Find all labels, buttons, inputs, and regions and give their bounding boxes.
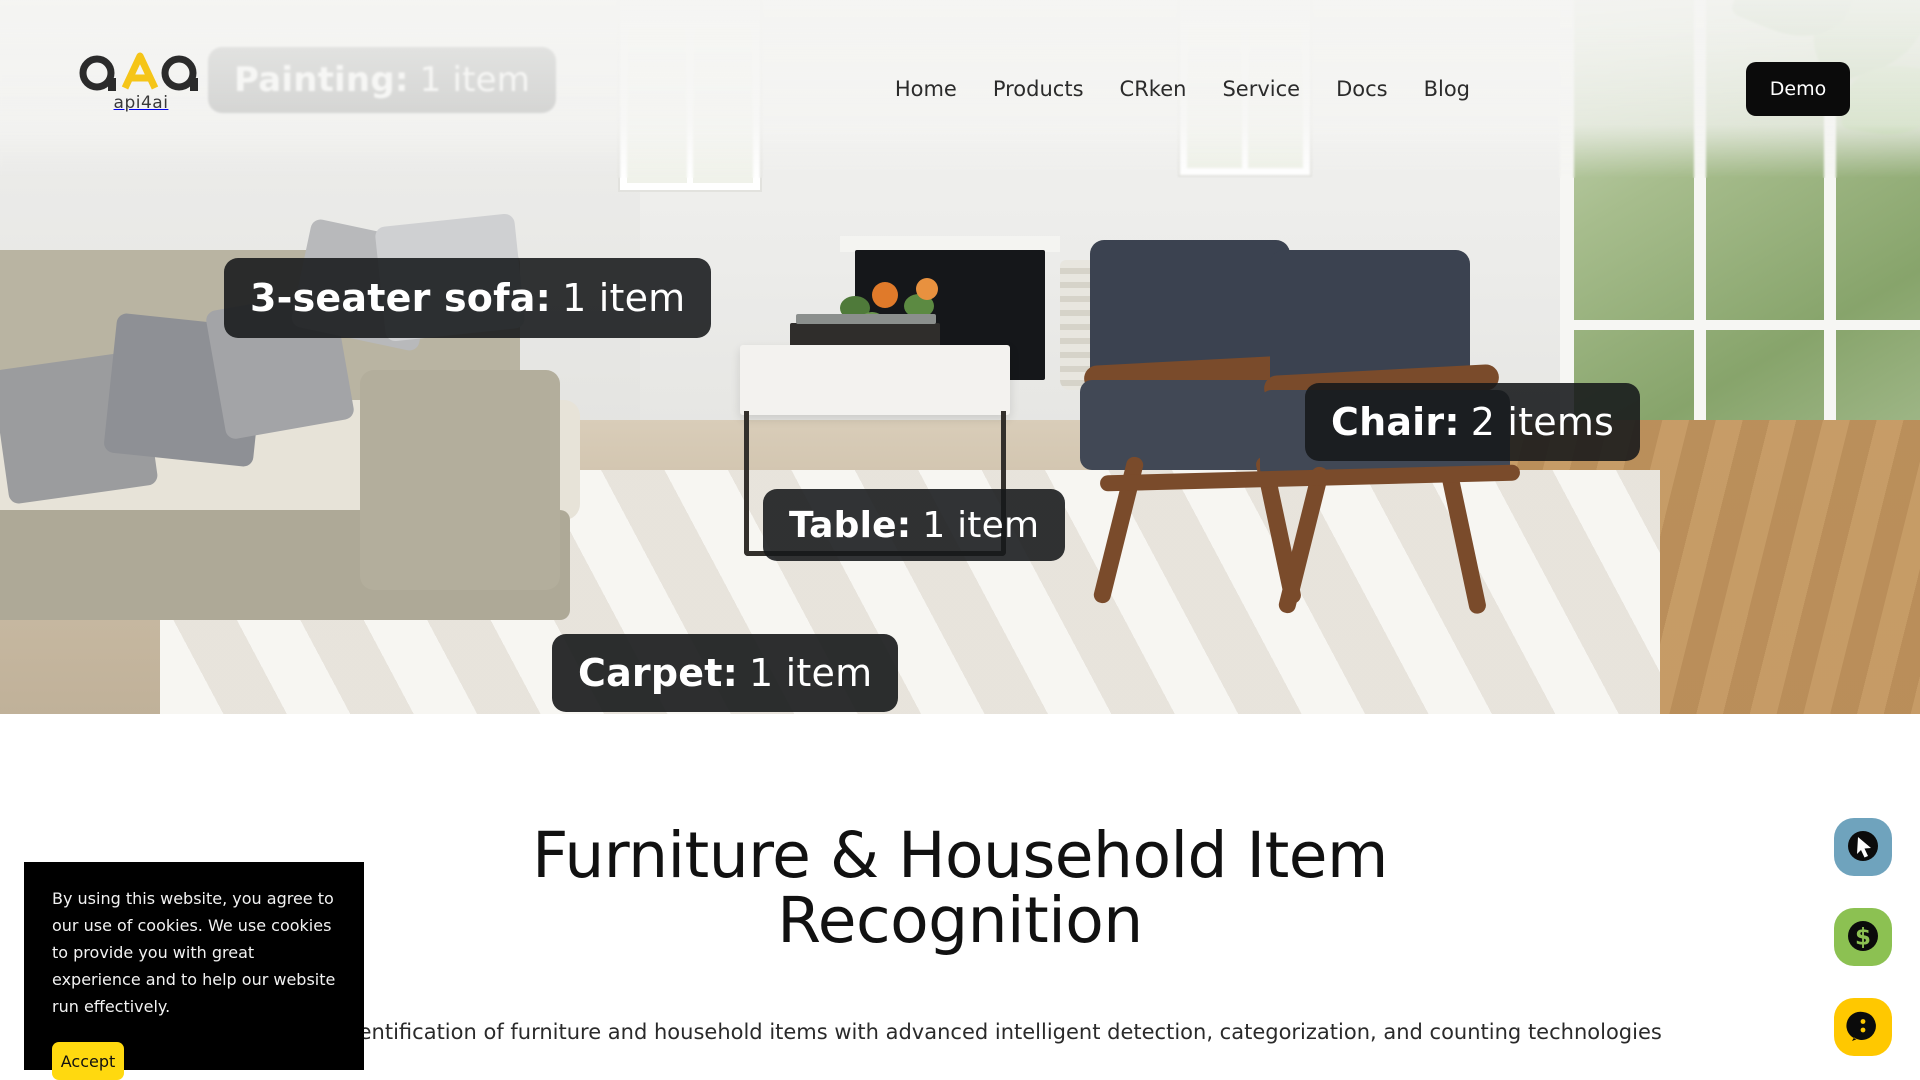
floating-action-buttons: $ bbox=[1834, 818, 1892, 1056]
detection-label: Chair: bbox=[1331, 400, 1460, 444]
nav-item-service[interactable]: Service bbox=[1204, 77, 1318, 101]
site-header: api4ai Home Products CRken Service Docs … bbox=[0, 0, 1920, 178]
detection-count: 1 item bbox=[922, 505, 1039, 546]
cookie-consent-banner: By using this website, you agree to our … bbox=[24, 862, 364, 1070]
detection-badge-table: Table: 1 item bbox=[763, 489, 1065, 561]
nav-item-home[interactable]: Home bbox=[877, 77, 975, 101]
chat-icon bbox=[1843, 1006, 1883, 1049]
detection-badge-chair: Chair: 2 items bbox=[1305, 383, 1640, 461]
nav-item-blog[interactable]: Blog bbox=[1406, 77, 1488, 101]
cookie-accept-button[interactable]: Accept bbox=[52, 1042, 124, 1080]
demo-button[interactable]: Demo bbox=[1746, 62, 1850, 116]
demo-cursor-fab[interactable] bbox=[1834, 818, 1892, 876]
logo-mark-icon bbox=[78, 48, 204, 92]
detection-badge-sofa: 3-seater sofa: 1 item bbox=[224, 258, 711, 338]
main-navigation: Home Products CRken Service Docs Blog bbox=[877, 0, 1488, 178]
page-title-line2: Recognition bbox=[777, 884, 1143, 957]
cookie-consent-text: By using this website, you agree to our … bbox=[52, 886, 336, 1020]
nav-item-crken[interactable]: CRken bbox=[1102, 77, 1205, 101]
logo-link[interactable]: api4ai bbox=[78, 48, 204, 113]
nav-item-products[interactable]: Products bbox=[975, 77, 1102, 101]
detection-label: Carpet: bbox=[578, 651, 738, 695]
pricing-fab[interactable]: $ bbox=[1834, 908, 1892, 966]
detection-count: 1 item bbox=[749, 651, 872, 695]
logo-subtitle: api4ai bbox=[78, 93, 204, 113]
detection-badge-carpet: Carpet: 1 item bbox=[552, 634, 898, 712]
page-title-line1: Furniture & Household Item bbox=[532, 819, 1388, 892]
detection-count: 1 item bbox=[562, 276, 685, 320]
nav-item-docs[interactable]: Docs bbox=[1318, 77, 1406, 101]
svg-text:$: $ bbox=[1855, 924, 1871, 950]
detection-label: 3-seater sofa: bbox=[250, 276, 551, 320]
dollar-icon: $ bbox=[1843, 916, 1883, 959]
chat-fab[interactable] bbox=[1834, 998, 1892, 1056]
coffee-table bbox=[740, 345, 1010, 605]
detection-label: Table: bbox=[789, 505, 911, 546]
detection-count: 2 items bbox=[1471, 400, 1614, 444]
cursor-icon bbox=[1843, 826, 1883, 869]
